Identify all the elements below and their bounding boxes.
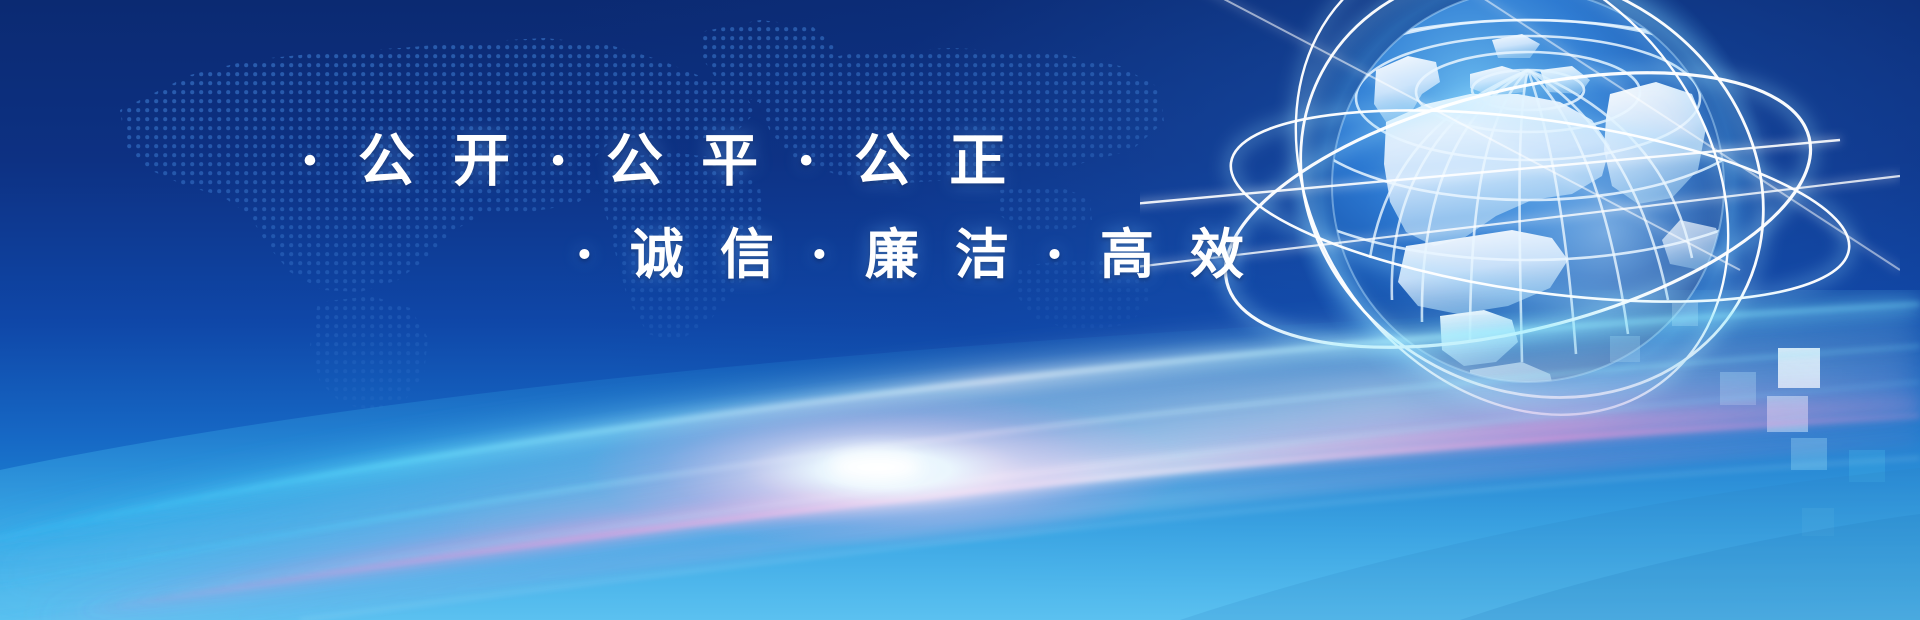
- deco-square-7: [1610, 336, 1640, 362]
- deco-square-4: [1791, 438, 1827, 470]
- banner-root: · 公 开 · 公 平 · 公 正 · 诚 信 · 廉 洁 · 高 效: [0, 0, 1920, 620]
- deco-square-2: [1767, 396, 1808, 432]
- wireframe-globe: [1140, 0, 1900, 440]
- slogan-line-2: · 诚 信 · 廉 洁 · 高 效: [0, 227, 1250, 281]
- dotted-world-map: [0, 0, 1180, 410]
- slogan-block: · 公 开 · 公 平 · 公 正 · 诚 信 · 廉 洁 · 高 效: [0, 132, 1250, 281]
- slogan-line-1: · 公 开 · 公 平 · 公 正: [0, 132, 1250, 189]
- deco-square-8: [1672, 302, 1698, 326]
- deco-square-3: [1720, 372, 1756, 405]
- deco-square-6: [1802, 508, 1834, 536]
- deco-square-5: [1849, 450, 1885, 482]
- light-streak-swoosh: [0, 290, 1920, 620]
- deco-square-1: [1778, 348, 1820, 388]
